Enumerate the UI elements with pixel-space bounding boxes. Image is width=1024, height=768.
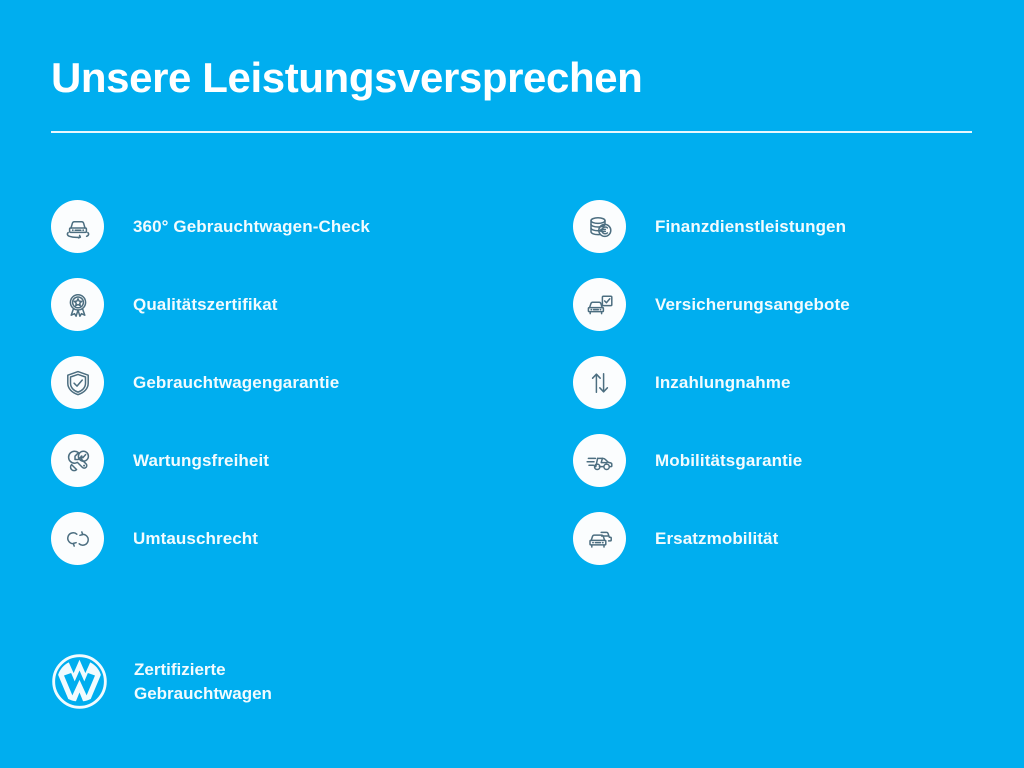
- shield-check-icon: [51, 356, 104, 409]
- feature-label: Qualitätszertifikat: [133, 295, 278, 315]
- brand-footer: Zertifizierte Gebrauchtwagen: [51, 653, 272, 710]
- feature-item-versicherungsangebote[interactable]: Versicherungsangebote: [573, 278, 1024, 331]
- volkswagen-logo: [51, 653, 108, 710]
- two-cars-icon: [573, 512, 626, 565]
- coins-euro-icon: [573, 200, 626, 253]
- brand-line-1: Zertifizierte: [134, 658, 272, 682]
- feature-item-gebrauchtwagen-check[interactable]: 360° Gebrauchtwagen-Check: [51, 200, 511, 253]
- feature-item-umtauschrecht[interactable]: Umtauschrecht: [51, 512, 511, 565]
- page-title: Unsere Leistungsversprechen: [51, 52, 642, 104]
- feature-label: Versicherungsangebote: [655, 295, 850, 315]
- car-360-check-icon: [51, 200, 104, 253]
- feature-label: Mobilitätsgarantie: [655, 451, 802, 471]
- feature-item-wartungsfreiheit[interactable]: Wartungsfreiheit: [51, 434, 511, 487]
- car-checkbox-icon: [573, 278, 626, 331]
- feature-label: Ersatzmobilität: [655, 529, 778, 549]
- feature-column-right: Finanzdienstleistungen Versicherungsange…: [573, 200, 1024, 565]
- exchange-arrows-icon: [51, 512, 104, 565]
- feature-label: Wartungsfreiheit: [133, 451, 269, 471]
- brand-text: Zertifizierte Gebrauchtwagen: [134, 658, 272, 706]
- title-divider: [51, 131, 972, 133]
- brand-line-2: Gebrauchtwagen: [134, 682, 272, 706]
- feature-item-finanzdienstleistungen[interactable]: Finanzdienstleistungen: [573, 200, 1024, 253]
- promise-panel: Unsere Leistungsversprechen 360° Gebrauc…: [0, 0, 1024, 768]
- feature-label: Gebrauchtwagengarantie: [133, 373, 339, 393]
- feature-label: Umtauschrecht: [133, 529, 258, 549]
- arrows-up-down-icon: [573, 356, 626, 409]
- feature-label: Inzahlungnahme: [655, 373, 791, 393]
- feature-item-gebrauchtwagengarantie[interactable]: Gebrauchtwagengarantie: [51, 356, 511, 409]
- feature-label: 360° Gebrauchtwagen-Check: [133, 217, 370, 237]
- feature-item-qualitaetszertifikat[interactable]: Qualitätszertifikat: [51, 278, 511, 331]
- feature-item-inzahlungnahme[interactable]: Inzahlungnahme: [573, 356, 1024, 409]
- car-speed-icon: [573, 434, 626, 487]
- feature-column-left: 360° Gebrauchtwagen-Check Qualitätszerti…: [51, 200, 511, 565]
- wrench-check-icon: [51, 434, 104, 487]
- feature-item-ersatzmobilitaet[interactable]: Ersatzmobilität: [573, 512, 1024, 565]
- feature-label: Finanzdienstleistungen: [655, 217, 846, 237]
- feature-item-mobilitaetsgarantie[interactable]: Mobilitätsgarantie: [573, 434, 1024, 487]
- award-rosette-icon: [51, 278, 104, 331]
